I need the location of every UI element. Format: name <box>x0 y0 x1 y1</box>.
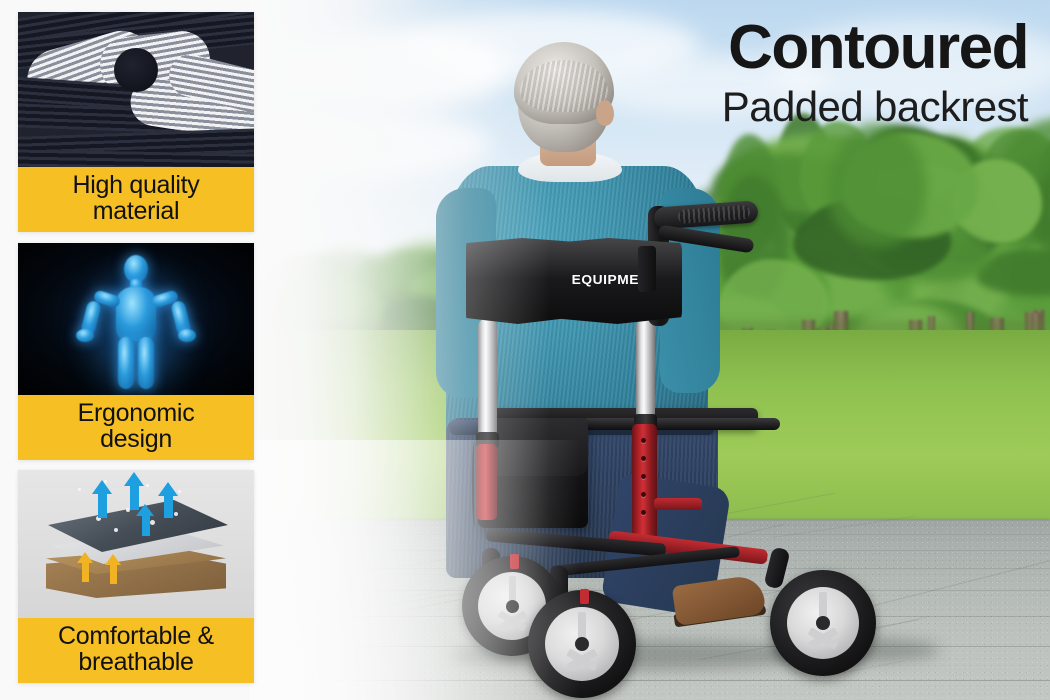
feature-label-1-line2: material <box>22 198 250 224</box>
frame-bracket <box>654 498 702 510</box>
height-adjust-hole <box>641 456 646 461</box>
feature-label-1: High quality material <box>18 167 254 232</box>
feature-label-3-line1: Comfortable & <box>22 623 250 649</box>
height-adjust-hole <box>641 438 646 443</box>
feature-label-1-line1: High quality <box>22 172 250 198</box>
feature-image-fabric <box>18 470 254 618</box>
height-adjust-hole <box>641 492 646 497</box>
backrest-strap <box>638 246 656 292</box>
product-feature-banner: EQUIPMED. Contoured Padded backrest <box>0 0 1050 700</box>
frame-lower-right <box>632 424 657 546</box>
photo-bottom-fade <box>250 440 580 700</box>
walker-seat-bar <box>580 418 780 430</box>
wheel-right <box>770 570 876 676</box>
feature-card-high-quality-material[interactable]: High quality material <box>18 12 254 232</box>
feature-label-3: Comfortable & breathable <box>18 618 254 683</box>
feature-label-2: Ergonomic design <box>18 395 254 460</box>
brand-logo-text: EQUIPME <box>572 272 639 287</box>
anatomy-photo <box>18 243 254 395</box>
height-adjust-hole <box>641 474 646 479</box>
headline-block: Contoured Padded backrest <box>722 16 1028 132</box>
feature-label-3-line2: breathable <box>22 649 250 675</box>
feature-image-anatomy <box>18 243 254 395</box>
man-ear <box>596 100 614 126</box>
wheel-hub <box>787 587 859 659</box>
frame-upright-right <box>636 318 655 422</box>
feature-image-cables <box>18 12 254 167</box>
feature-label-2-line1: Ergonomic <box>22 400 250 426</box>
feature-card-comfortable-breathable[interactable]: Comfortable & breathable <box>18 470 254 683</box>
cable-photo <box>18 12 254 167</box>
wheel-marker <box>580 589 589 604</box>
fabric-diagram <box>18 470 254 618</box>
headline-sub: Padded backrest <box>722 83 1028 131</box>
feature-label-2-line2: design <box>22 426 250 452</box>
feature-card-panel: High quality material <box>0 0 270 700</box>
height-adjust-hole <box>641 510 646 515</box>
wheel-axle <box>816 616 830 630</box>
headline-main: Contoured <box>722 16 1028 79</box>
feature-card-ergonomic-design[interactable]: Ergonomic design <box>18 243 254 460</box>
